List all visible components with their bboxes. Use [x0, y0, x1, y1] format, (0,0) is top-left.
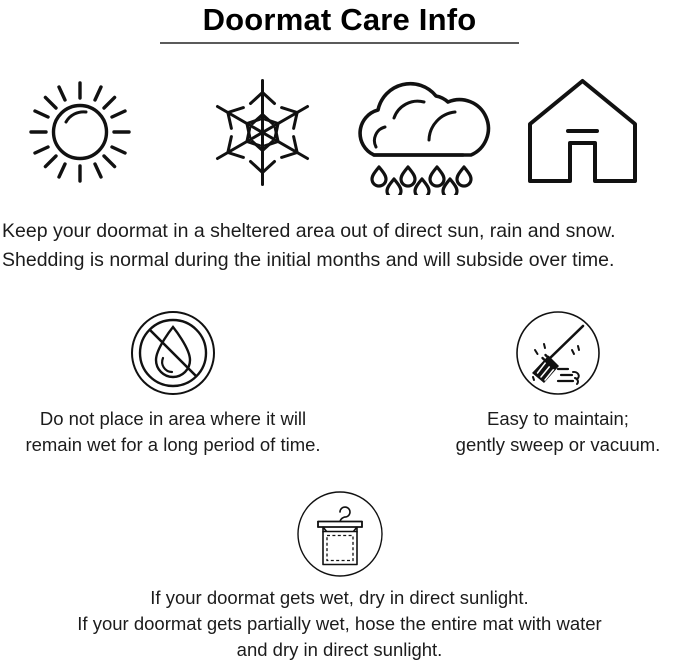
hang-dry-icon: [0, 490, 679, 580]
drying-section: If your doormat gets wet, dry in direct …: [0, 490, 679, 663]
care-items-row: Do not place in area where it will remai…: [0, 310, 679, 470]
snowflake-icon: [200, 70, 325, 195]
sweep-line-2: gently sweep or vacuum.: [388, 432, 679, 458]
drying-line-1: If your doormat gets wet, dry in direct …: [0, 585, 679, 611]
care-item-sweep-caption: Easy to maintain; gently sweep or vacuum…: [388, 406, 679, 458]
weather-icon-row: [0, 70, 679, 195]
page-header: Doormat Care Info: [0, 0, 679, 44]
care-item-no-water-caption: Do not place in area where it will remai…: [3, 406, 343, 458]
no-water-line-2: remain wet for a long period of time.: [3, 432, 343, 458]
intro-paragraph: Keep your doormat in a sheltered area ou…: [2, 217, 679, 275]
drying-line-3: and dry in direct sunlight.: [0, 637, 679, 663]
house-icon: [515, 70, 650, 195]
sweep-line-1: Easy to maintain;: [388, 406, 679, 432]
sun-icon: [20, 70, 140, 195]
intro-line-2: Shedding is normal during the initial mo…: [2, 246, 679, 275]
drying-caption: If your doormat gets wet, dry in direct …: [0, 585, 679, 663]
page-title: Doormat Care Info: [0, 0, 679, 39]
care-item-sweep: Easy to maintain; gently sweep or vacuum…: [388, 310, 679, 458]
broom-sweep-icon: [388, 310, 679, 398]
intro-line-1: Keep your doormat in a sheltered area ou…: [2, 217, 679, 246]
rain-cloud-icon: [350, 70, 495, 195]
care-item-no-water: Do not place in area where it will remai…: [3, 310, 343, 458]
no-water-line-1: Do not place in area where it will: [3, 406, 343, 432]
title-underline-rule: [160, 42, 519, 44]
no-water-icon: [3, 310, 343, 398]
drying-line-2: If your doormat gets partially wet, hose…: [0, 611, 679, 637]
